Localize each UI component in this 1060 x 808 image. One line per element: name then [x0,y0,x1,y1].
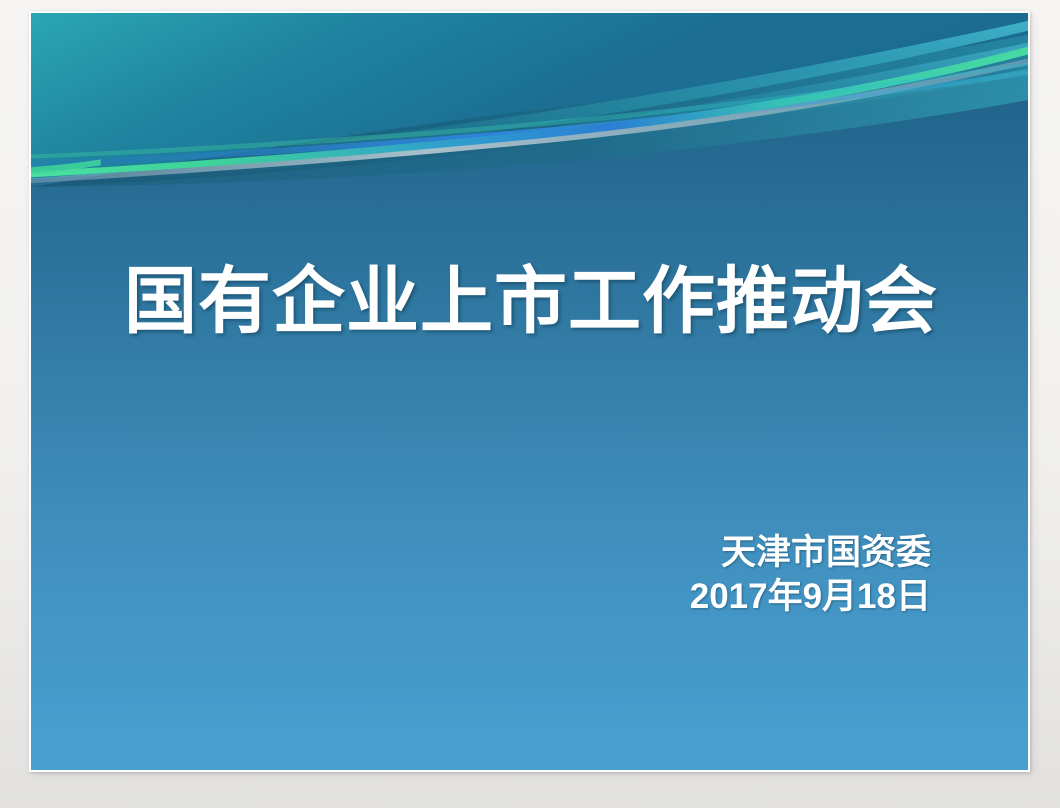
wave-svg [31,13,1028,187]
title-placeholder: 国有企业上市工作推动会 [91,265,971,339]
wave-band-mid [31,68,1028,187]
slide-viewer: 国有企业上市工作推动会 天津市国资委 2017年9月18日 [0,0,1060,808]
wave-line-blue [31,70,1028,167]
slide-frame: 国有企业上市工作推动会 天津市国资委 2017年9月18日 [29,11,1030,772]
wave-fan-upper [31,21,1028,177]
subtitle-date: 2017年9月18日 [331,575,931,619]
subtitle-organization: 天津市国资委 [331,531,931,575]
wave-band-dark [31,35,1028,187]
wave-line-light [31,59,1028,184]
wave-line-green [31,47,1028,178]
page-title: 国有企业上市工作推动会 [91,265,971,339]
wave-line-green-secondary [31,62,1028,158]
subtitle-placeholder: 天津市国资委 2017年9月18日 [331,531,931,619]
slide-canvas: 国有企业上市工作推动会 天津市国资委 2017年9月18日 [31,13,1028,770]
flow-wave-ribbon-graphic [31,13,1028,187]
wave-fan-lower [31,43,1028,185]
wave-teal-wash [31,13,1028,179]
wave-left-flare [31,159,101,174]
